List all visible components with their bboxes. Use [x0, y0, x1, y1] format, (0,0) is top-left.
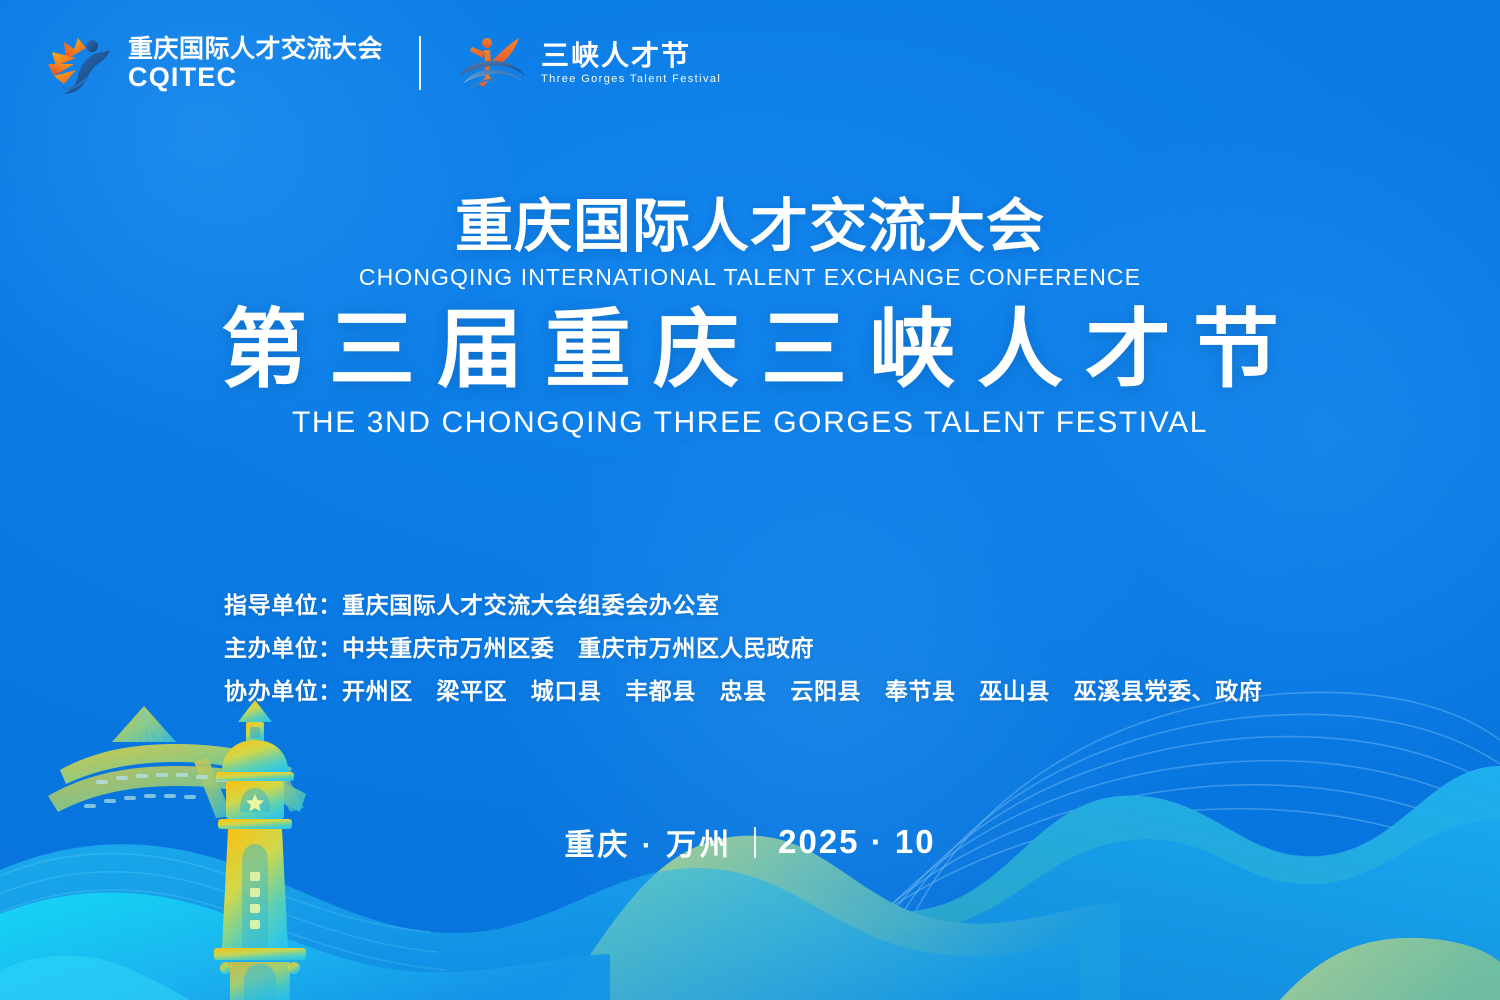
three-gorges-figure-wave-logo-icon	[457, 32, 529, 94]
three-gorges-chinese-name: 三峡人才节	[541, 40, 721, 72]
cqitec-phoenix-figure-logo-icon	[42, 26, 116, 100]
header-divider	[419, 36, 421, 90]
organizer-block: 指导单位：重庆国际人才交流大会组委会办公室 主办单位：中共重庆市万州区委 重庆市…	[224, 584, 1262, 713]
poster-canvas: 重庆国际人才交流大会 CQITEC	[0, 0, 1500, 1000]
cqitec-english-abbr: CQITEC	[128, 63, 383, 91]
cqitec-logo-text: 重庆国际人才交流大会 CQITEC	[128, 35, 383, 91]
wave-bump-bottom-left	[0, 956, 190, 1000]
wave-left-lightblue	[0, 844, 1080, 1000]
header-logo-bar: 重庆国际人才交流大会 CQITEC	[42, 26, 721, 100]
date-divider	[754, 827, 756, 858]
date-place-block: 重庆 · 万州 2025 · 10	[0, 820, 1500, 864]
guidance-unit-line: 指导单位：重庆国际人才交流大会组委会办公室	[224, 584, 1262, 627]
conference-title-english: CHONGQING INTERNATIONAL TALENT EXCHANGE …	[0, 265, 1500, 290]
three-gorges-english-name: Three Gorges Talent Festival	[541, 72, 721, 86]
hill-green-right	[1280, 938, 1500, 1000]
date-place-inner: 重庆 · 万州 2025 · 10	[564, 820, 935, 864]
three-gorges-logo: 三峡人才节 Three Gorges Talent Festival	[457, 32, 721, 94]
cqitec-chinese-name: 重庆国际人才交流大会	[128, 35, 383, 63]
three-gorges-logo-text: 三峡人才节 Three Gorges Talent Festival	[541, 40, 721, 86]
title-block: 重庆国际人才交流大会 CHONGQING INTERNATIONAL TALEN…	[0, 196, 1500, 439]
conference-title-chinese: 重庆国际人才交流大会	[0, 196, 1500, 259]
event-date: 2025 · 10	[778, 823, 935, 861]
festival-title-english: THE 3ND CHONGQING THREE GORGES TALENT FE…	[0, 406, 1500, 439]
cqitec-logo: 重庆国际人才交流大会 CQITEC	[42, 26, 383, 100]
co-organizer-unit-line: 协办单位：开州区 梁平区 城口县 丰都县 忠县 云阳县 奉节县 巫山县 巫溪县党…	[224, 670, 1262, 713]
wave-foreground-cyan	[0, 893, 610, 1000]
event-place: 重庆 · 万州	[564, 820, 732, 864]
wave-right-teal	[770, 766, 1500, 1000]
wave-lines-decoration-left	[0, 854, 452, 989]
pavilion-boat-illustration	[48, 706, 306, 818]
festival-title-chinese: 第三届重庆三峡人才节	[0, 302, 1500, 398]
host-unit-line: 主办单位：中共重庆市万州区委 重庆市万州区人民政府	[224, 627, 1262, 670]
